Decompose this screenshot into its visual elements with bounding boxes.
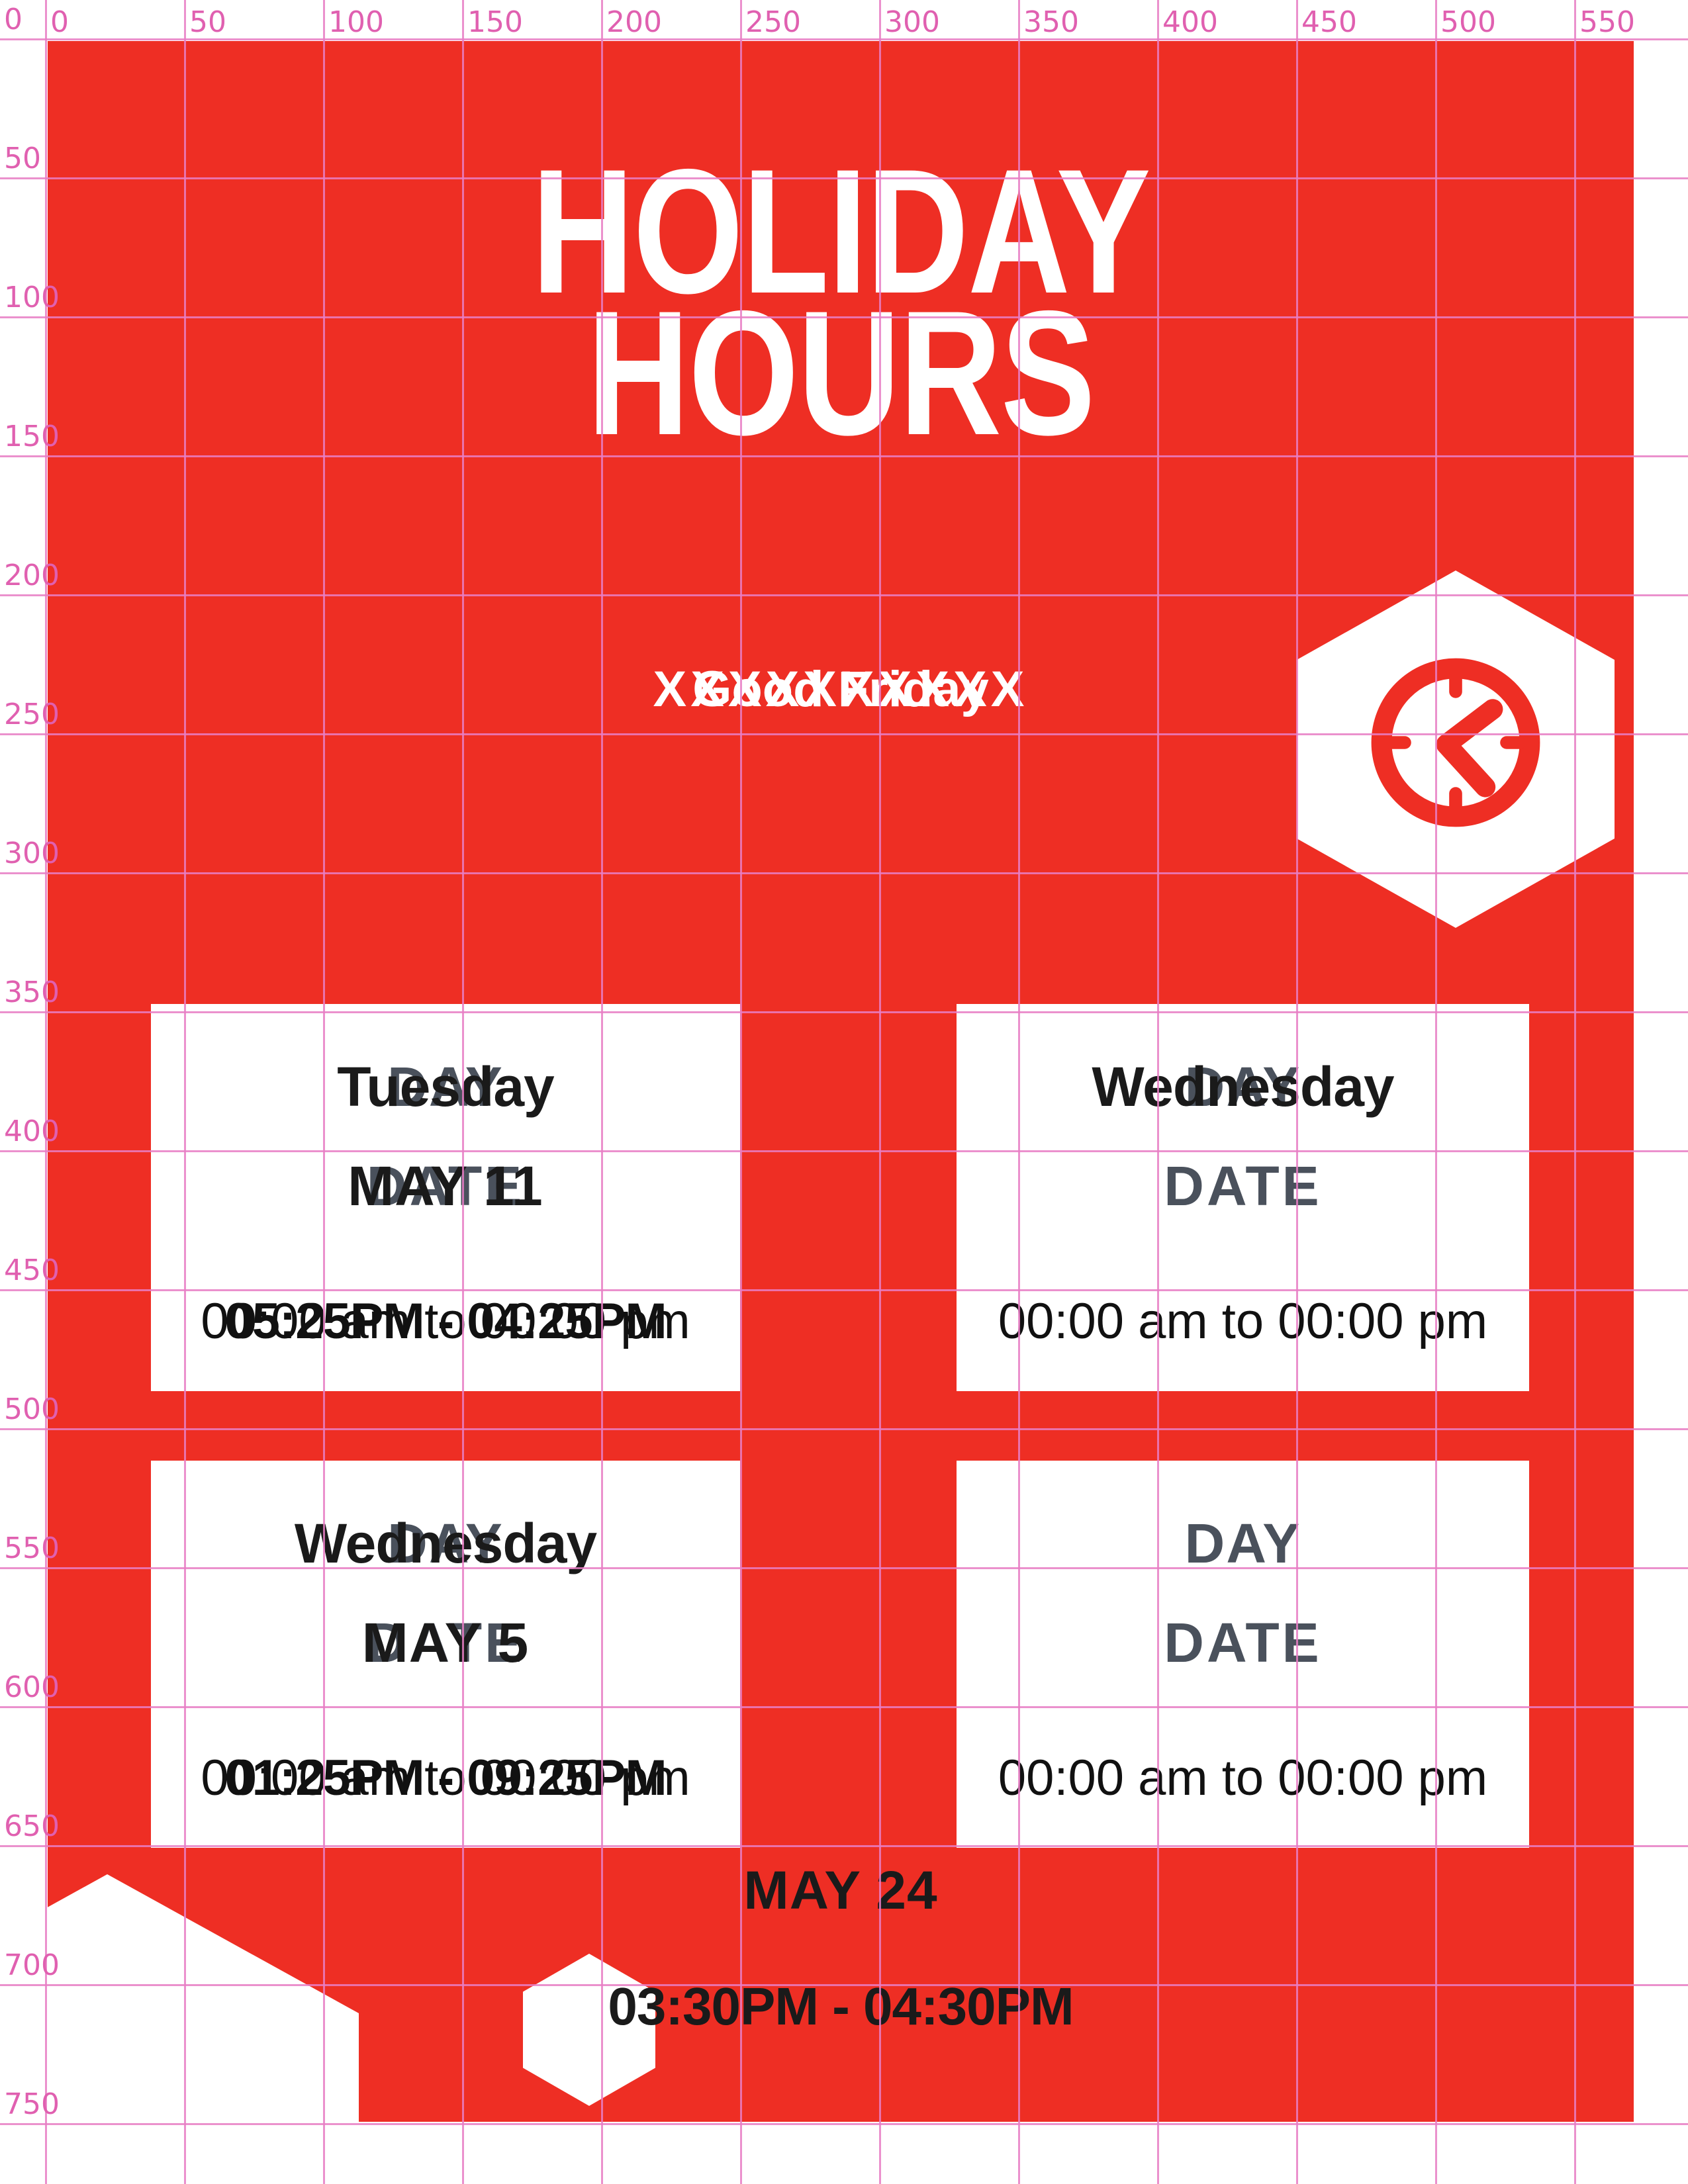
footer-date-text[interactable]: MAY 24 bbox=[48, 1858, 1634, 1924]
page-title: HOLIDAY HOURS bbox=[48, 160, 1634, 444]
schedule-card[interactable]: DAY Wednesday DATE MAY 5 00:00 am to 00:… bbox=[151, 1461, 740, 1848]
schedule-card[interactable]: DAY DATE 00:00 am to 00:00 pm bbox=[957, 1461, 1529, 1848]
grid-label-x: 0 bbox=[50, 8, 69, 37]
schedule-card[interactable]: DAY Tuesday DATE MAY 11 00:00 am to 00:0… bbox=[151, 1004, 740, 1391]
grid-label-x: 200 bbox=[606, 8, 662, 37]
card-date-stack: DATE MAY 5 bbox=[151, 1606, 740, 1679]
card-day-stack: DAY Wednesday bbox=[151, 1507, 740, 1580]
card-time-stack: 00:00 am to 00:00 pm bbox=[957, 1745, 1529, 1811]
time-value[interactable]: 05:25PM - 04:25PM bbox=[151, 1289, 740, 1355]
title-line-hours: HOURS bbox=[207, 302, 1476, 443]
day-value[interactable]: Tuesday bbox=[151, 1050, 740, 1123]
day-value[interactable]: Wednesday bbox=[151, 1507, 740, 1580]
screenshot-canvas: HOLIDAY HOURS XXXXXXXXXX Good Friday DAY… bbox=[0, 0, 1688, 2184]
holiday-hours-poster: HOLIDAY HOURS XXXXXXXXXX Good Friday DAY… bbox=[48, 41, 1634, 2122]
card-time-stack: 00:00 am to 00:00 pm bbox=[957, 1289, 1529, 1355]
date-value[interactable]: MAY 11 bbox=[151, 1150, 740, 1222]
day-placeholder: DAY bbox=[957, 1507, 1529, 1580]
grid-label-x: 50 bbox=[189, 8, 226, 37]
grid-label-x: 250 bbox=[745, 8, 801, 37]
grid-label-x: 550 bbox=[1579, 8, 1635, 37]
date-value[interactable]: MAY 5 bbox=[151, 1606, 740, 1679]
grid-label-x: 500 bbox=[1440, 8, 1496, 37]
grid-line-horizontal bbox=[0, 38, 1688, 40]
schedule-card[interactable]: DAY Wednesday DATE 00:00 am to 00:00 pm bbox=[957, 1004, 1529, 1391]
date-placeholder: DATE bbox=[957, 1606, 1529, 1679]
card-date-stack: DATE MAY 11 bbox=[151, 1150, 740, 1222]
grid-label-x: 100 bbox=[328, 8, 384, 37]
card-time-stack: 00:00 am to 00:00 pm 05:25PM - 04:25PM bbox=[151, 1289, 740, 1355]
day-value[interactable]: Wednesday bbox=[957, 1050, 1529, 1123]
card-date-stack: DATE bbox=[957, 1606, 1529, 1679]
grid-label-x: 300 bbox=[884, 8, 940, 37]
card-date-stack: DATE bbox=[957, 1150, 1529, 1222]
card-day-stack: DAY bbox=[957, 1507, 1529, 1580]
grid-line-horizontal bbox=[0, 2123, 1688, 2125]
grid-line-vertical bbox=[45, 0, 47, 2184]
grid-label-x: 450 bbox=[1301, 8, 1357, 37]
grid-label-x: 150 bbox=[467, 8, 523, 37]
subtitle-value[interactable]: Good Friday bbox=[48, 650, 1634, 729]
card-day-stack: DAY Wednesday bbox=[957, 1050, 1529, 1123]
grid-label-x: 350 bbox=[1023, 8, 1079, 37]
grid-label-y: 50 bbox=[4, 144, 41, 173]
card-time-stack: 00:00 am to 00:00 pm 01:25PM - 09:25PM bbox=[151, 1745, 740, 1811]
time-value[interactable]: 01:25PM - 09:25PM bbox=[151, 1745, 740, 1811]
footer-time-text[interactable]: 03:30PM - 04:30PM bbox=[48, 1970, 1634, 2043]
time-placeholder: 00:00 am to 00:00 pm bbox=[957, 1745, 1529, 1811]
card-day-stack: DAY Tuesday bbox=[151, 1050, 740, 1123]
grid-label-x: 400 bbox=[1162, 8, 1218, 37]
date-placeholder: DATE bbox=[957, 1150, 1529, 1222]
time-placeholder: 00:00 am to 00:00 pm bbox=[957, 1289, 1529, 1355]
grid-label-y: 0 bbox=[4, 5, 23, 34]
subtitle-stack: XXXXXXXXXX Good Friday bbox=[48, 650, 1634, 729]
